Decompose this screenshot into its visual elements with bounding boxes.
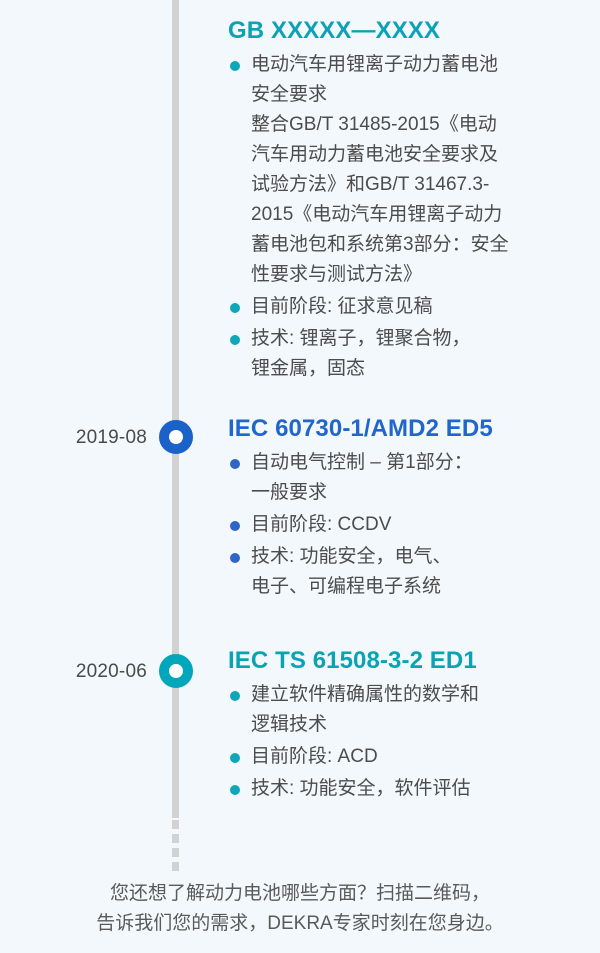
timeline-container: GB XXXXX—XXXX 电动汽车用锂离子动力蓄电池 安全要求 整合GB/T … — [0, 0, 600, 953]
entry-date-2020-06: 2020-06 — [0, 661, 147, 683]
timeline-marker-teal[interactable] — [159, 654, 193, 688]
timeline-rail-dashed-tail — [172, 820, 179, 872]
entry-title-gb: GB XXXXX—XXXX — [228, 18, 592, 44]
entry-bullet-list-gb: 电动汽车用锂离子动力蓄电池 安全要求 整合GB/T 31485-2015《电动 … — [228, 50, 592, 384]
entry-title-iec60730: IEC 60730-1/AMD2 ED5 — [228, 416, 592, 442]
timeline-marker-blue[interactable] — [159, 420, 193, 454]
timeline-entry-body: IEC 60730-1/AMD2 ED5 自动电气控制 – 第1部分： 一般要求… — [228, 416, 592, 604]
bullet-technology: 技术: 功能安全，软件评估 — [228, 774, 592, 804]
bullet-stage: 目前阶段: CCDV — [228, 510, 592, 540]
entry-date-2019-08: 2019-08 — [0, 427, 147, 449]
bullet-scope: 建立软件精确属性的数学和 逻辑技术 — [228, 680, 592, 740]
entry-title-iec61508: IEC TS 61508-3-2 ED1 — [228, 648, 592, 674]
bullet-technology: 技术: 功能安全，电气、 电子、可编程电子系统 — [228, 542, 592, 602]
bullet-stage: 目前阶段: 征求意见稿 — [228, 292, 592, 322]
bullet-scope: 电动汽车用锂离子动力蓄电池 安全要求 整合GB/T 31485-2015《电动 … — [228, 50, 592, 290]
timeline-entry-body: GB XXXXX—XXXX 电动汽车用锂离子动力蓄电池 安全要求 整合GB/T … — [228, 18, 592, 386]
timeline-rail — [172, 0, 179, 818]
entry-bullet-list-iec61508: 建立软件精确属性的数学和 逻辑技术 目前阶段: ACD 技术: 功能安全，软件评… — [228, 680, 592, 804]
timeline-entry-body: IEC TS 61508-3-2 ED1 建立软件精确属性的数学和 逻辑技术 目… — [228, 648, 592, 806]
bullet-technology: 技术: 锂离子，锂聚合物， 锂金属，固态 — [228, 324, 592, 384]
footer-cta-text: 您还想了解动力电池哪些方面？扫描二维码， 告诉我们您的需求，DEKRA专家时刻在… — [0, 879, 600, 939]
entry-bullet-list-iec60730: 自动电气控制 – 第1部分： 一般要求 目前阶段: CCDV 技术: 功能安全，… — [228, 448, 592, 602]
bullet-stage: 目前阶段: ACD — [228, 742, 592, 772]
bullet-scope: 自动电气控制 – 第1部分： 一般要求 — [228, 448, 592, 508]
